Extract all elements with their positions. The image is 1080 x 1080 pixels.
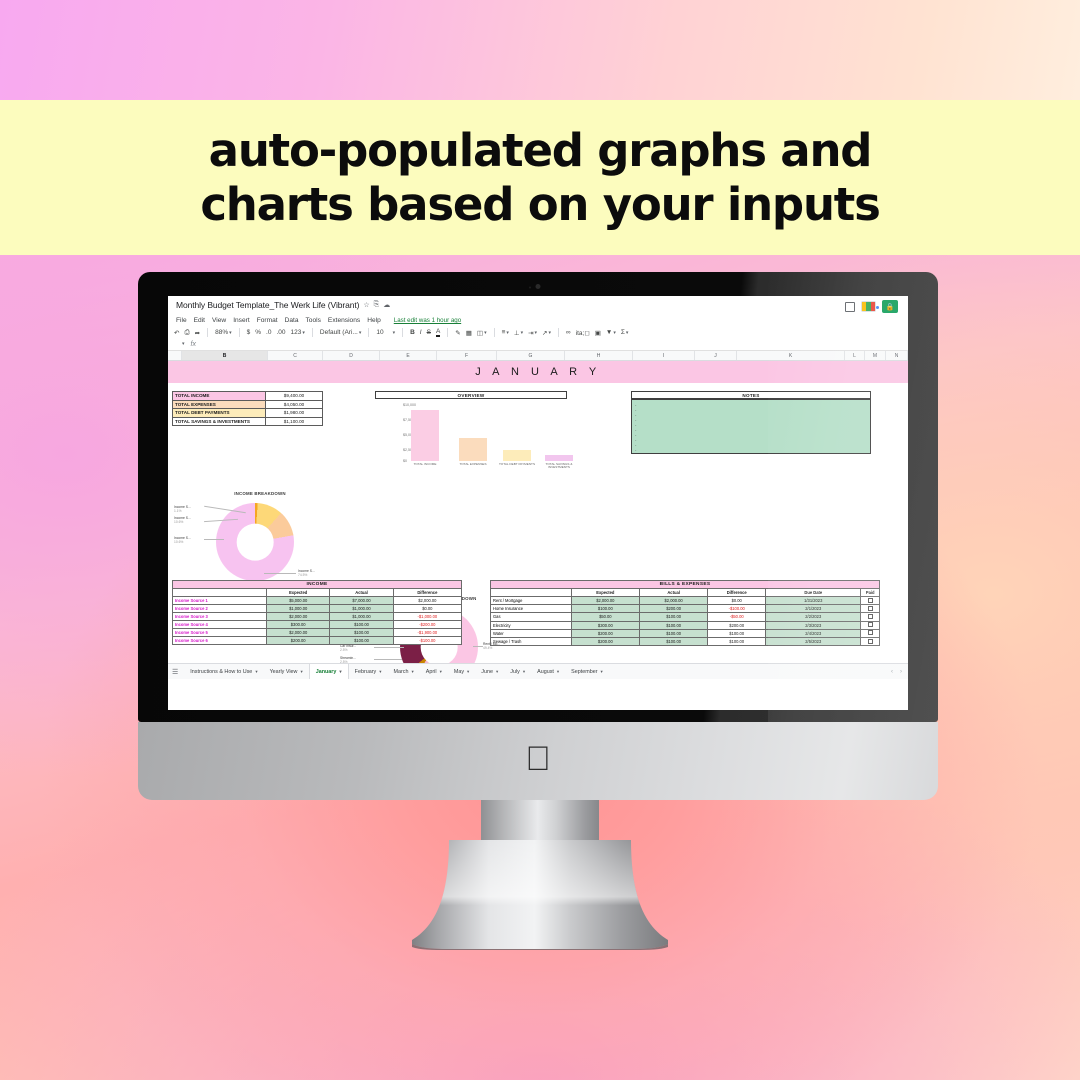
table-row: TOTAL DEBT PAYMENTS $1,980.00: [173, 409, 323, 418]
bill-expected[interactable]: $2,000.00: [571, 597, 639, 605]
income-source-name[interactable]: Income Source 1: [173, 597, 267, 605]
meet-icon[interactable]: [861, 301, 876, 312]
toolbar: ↶ ⎙ ➦ 88%▾ $ % .0 .00 123▾ Default (Ari.…: [168, 326, 908, 339]
menu-extensions[interactable]: Extensions: [328, 317, 360, 324]
income-actual[interactable]: $100.00: [330, 621, 393, 629]
bill-difference: -$100.00: [708, 605, 766, 613]
sheet-tab-instructions[interactable]: Instructions & How to Use▾: [184, 664, 263, 680]
bar-label-total-debt: TOTAL DEBT PAYMENTS: [497, 463, 537, 467]
income-table-caption: INCOME: [173, 581, 462, 589]
column-header-b[interactable]: B: [182, 351, 268, 360]
income-actual[interactable]: $1,000.00: [330, 613, 393, 621]
bill-paid-cell[interactable]: [861, 621, 880, 629]
tab-next-icon[interactable]: ›: [900, 669, 902, 675]
bill-expected[interactable]: $200.00: [571, 637, 639, 645]
paid-checkbox[interactable]: [868, 614, 873, 619]
bill-difference: $100.00: [708, 637, 766, 645]
column-header-m[interactable]: M: [865, 351, 886, 360]
column-header-i[interactable]: I: [633, 351, 695, 360]
income-col-actual: Actual: [330, 589, 393, 597]
table-row[interactable]: Gas $50.00 $100.00 -$50.00 2/2/2023: [491, 613, 880, 621]
insert-image-icon[interactable]: ▣: [595, 329, 601, 337]
menu-insert[interactable]: Insert: [233, 317, 250, 324]
table-row[interactable]: Income Source 3 $2,000.00 $1,000.00 -$1,…: [173, 613, 462, 621]
col-corner[interactable]: [168, 351, 182, 360]
imac-stand: [412, 840, 668, 950]
bill-actual[interactable]: $100.00: [639, 637, 707, 645]
income-difference: $2,000.00: [393, 597, 461, 605]
horizontal-align-icon[interactable]: ≡▾: [502, 329, 509, 336]
menu-file[interactable]: File: [176, 317, 187, 324]
menu-edit[interactable]: Edit: [194, 317, 205, 324]
screen-content: Monthly Budget Template_The Werk Life (V…: [168, 296, 908, 710]
bills-table-wrap[interactable]: BILLS & EXPENSES Expected Actual Differe…: [490, 580, 880, 646]
income-expected[interactable]: $2,000.00: [267, 629, 330, 637]
sheet-tab-bar: ☰ Instructions & How to Use▾ Yearly View…: [168, 663, 908, 679]
bill-expected[interactable]: $100.00: [571, 605, 639, 613]
notes-body[interactable]: - - - - - - - - - -: [631, 399, 871, 454]
table-row[interactable]: Home Insurance $100.00 $200.00 -$100.00 …: [491, 605, 880, 613]
sheet-tab-january[interactable]: January▾: [309, 664, 349, 680]
summary-value-total-expenses[interactable]: $4,050.00: [266, 400, 323, 409]
paid-checkbox[interactable]: [868, 606, 873, 611]
table-row[interactable]: Water $200.00 $100.00 $100.00 2/4/2023: [491, 629, 880, 637]
bills-table[interactable]: BILLS & EXPENSES Expected Actual Differe…: [490, 580, 880, 646]
table-row: BILLS & EXPENSES: [491, 581, 880, 589]
bill-actual[interactable]: $200.00: [639, 605, 707, 613]
bill-name[interactable]: Electricity: [491, 621, 572, 629]
bill-due-date[interactable]: 2/1/2023: [766, 605, 861, 613]
menu-view[interactable]: View: [212, 317, 226, 324]
overview-bars: $10,000 $7,500 $5,000 $2,500 $0 TOTAL IN…: [375, 399, 567, 471]
italic-button[interactable]: I: [420, 329, 422, 336]
summary-label-total-income: TOTAL INCOME: [173, 392, 266, 401]
bill-difference: $100.00: [708, 629, 766, 637]
bill-due-date[interactable]: 2/4/2023: [766, 629, 861, 637]
column-header-h[interactable]: H: [565, 351, 633, 360]
column-header-g[interactable]: G: [497, 351, 565, 360]
sheet-tab-march[interactable]: March▾: [388, 664, 420, 680]
income-col-expected: Expected: [267, 589, 330, 597]
bar-total-savings: TOTAL SAVINGS & INVESTMENTS: [545, 455, 573, 461]
paid-checkbox[interactable]: [868, 598, 873, 603]
bill-paid-cell[interactable]: [861, 629, 880, 637]
table-row: TOTAL SAVINGS & INVESTMENTS $1,100.00: [173, 417, 323, 426]
percent-format-button[interactable]: %: [255, 329, 261, 336]
menu-tools[interactable]: Tools: [306, 317, 321, 324]
background-top-strip: [0, 0, 1080, 100]
comment-icon[interactable]: [845, 302, 855, 312]
income-label-1: Income S... 1.1%: [174, 505, 191, 513]
formula-bar: ▾ fx: [168, 339, 908, 351]
bill-name[interactable]: Gas: [491, 613, 572, 621]
income-difference: -$1,900.00: [393, 629, 461, 637]
number-format-select[interactable]: 123▾: [291, 329, 305, 336]
overview-chart-title: OVERVIEW: [375, 391, 567, 399]
column-header-d[interactable]: D: [323, 351, 380, 360]
income-label-3: Income S... 10.6%: [174, 536, 191, 544]
link-icon[interactable]: ∞: [566, 329, 571, 336]
bill-due-date[interactable]: 2/5/2023: [766, 637, 861, 645]
column-header-c[interactable]: C: [268, 351, 323, 360]
summary-table-wrap: TOTAL INCOME $9,400.00 TOTAL EXPENSES $4…: [172, 391, 323, 426]
income-actual[interactable]: $100.00: [330, 629, 393, 637]
expense-label-car-insurance: Car Insur... 2.5%: [340, 644, 356, 652]
bill-due-date[interactable]: 1/31/2023: [766, 597, 861, 605]
bill-difference: $200.00: [708, 621, 766, 629]
bold-button[interactable]: B: [410, 329, 415, 336]
table-row[interactable]: Income Source 2 $1,000.00 $1,000.00 $0.0…: [173, 605, 462, 613]
table-row[interactable]: Income Source 4 $300.00 $100.00 -$200.00: [173, 621, 462, 629]
imac-chin: : [138, 722, 938, 800]
menu-bar: File Edit View Insert Format Data Tools …: [168, 316, 908, 326]
income-source-name[interactable]: Income Source 6: [173, 637, 267, 645]
bill-difference: $0.00: [708, 597, 766, 605]
notes-title: NOTES: [631, 391, 871, 399]
bill-due-date[interactable]: 2/2/2023: [766, 613, 861, 621]
notes-bullet: -: [635, 447, 867, 452]
bill-actual[interactable]: $2,000.00: [639, 597, 707, 605]
share-button[interactable]: 🔒: [882, 300, 898, 313]
income-table-wrap[interactable]: INCOME Expected Actual Difference Income…: [172, 580, 462, 645]
currency-format-button[interactable]: $: [247, 329, 251, 336]
sheet-tab-july[interactable]: July▾: [504, 664, 531, 680]
bill-expected[interactable]: $200.00: [571, 629, 639, 637]
table-row: INCOME: [173, 581, 462, 589]
merge-cells-icon[interactable]: ◫▾: [477, 329, 487, 337]
table-row[interactable]: Income Source 6 $200.00 $100.00 -$100.00: [173, 637, 462, 645]
bill-name[interactable]: Sewage / Trash: [491, 637, 572, 645]
summary-label-total-savings: TOTAL SAVINGS & INVESTMENTS: [173, 417, 266, 426]
tab-navigation: ‹ ›: [891, 669, 908, 675]
sheet-tab-yearly-view[interactable]: Yearly View▾: [264, 664, 309, 680]
sheet-tab-april[interactable]: April▾: [420, 664, 448, 680]
bill-name[interactable]: Rent / Mortgage: [491, 597, 572, 605]
table-row: TOTAL EXPENSES $4,050.00: [173, 400, 323, 409]
text-wrap-icon[interactable]: ⇥▾: [528, 329, 537, 337]
bill-actual[interactable]: $100.00: [639, 629, 707, 637]
bills-col-difference: Difference: [708, 589, 766, 597]
table-row[interactable]: Electricity $300.00 $100.00 $200.00 2/3/…: [491, 621, 880, 629]
income-col-blank: [173, 589, 267, 597]
income-col-difference: Difference: [393, 589, 461, 597]
tab-prev-icon[interactable]: ‹: [891, 669, 893, 675]
spreadsheet-grid[interactable]: J A N U A R Y TOTAL INCOME $9,400.00 TOT…: [168, 361, 908, 679]
bar-total-expenses: TOTAL EXPENSES: [459, 438, 487, 461]
income-difference: $0.00: [393, 605, 461, 613]
print-icon[interactable]: ⎙: [184, 329, 189, 337]
imac-bezel: Monthly Budget Template_The Werk Life (V…: [138, 272, 938, 722]
name-box-caret-icon[interactable]: ▾: [182, 341, 185, 347]
bills-col-expected: Expected: [571, 589, 639, 597]
apple-logo: : [525, 742, 551, 776]
zoom-select[interactable]: 88%▾: [215, 329, 232, 336]
summary-value-total-income[interactable]: $9,400.00: [266, 392, 323, 401]
bills-col-actual: Actual: [639, 589, 707, 597]
text-rotation-icon[interactable]: ↗▾: [542, 329, 551, 337]
income-donut: [216, 503, 294, 581]
font-size-select[interactable]: 10▾: [376, 329, 395, 336]
income-label-4: Income S... 74.5%: [298, 569, 315, 577]
bills-col-due-date: Due Date: [766, 589, 861, 597]
income-expected[interactable]: $1,000.00: [267, 605, 330, 613]
bill-due-date[interactable]: 2/3/2023: [766, 621, 861, 629]
strikethrough-button[interactable]: S: [427, 329, 431, 336]
table-row: Expected Actual Difference Due Date Paid: [491, 589, 880, 597]
income-difference: -$200.00: [393, 621, 461, 629]
table-row: Expected Actual Difference: [173, 589, 462, 597]
paid-checkbox[interactable]: [868, 622, 873, 627]
bills-col-blank: [491, 589, 572, 597]
month-title: J A N U A R Y: [168, 361, 908, 383]
column-header-e[interactable]: E: [380, 351, 437, 360]
fx-icon: fx: [191, 341, 196, 348]
summary-label-total-expenses: TOTAL EXPENSES: [173, 400, 266, 409]
bill-difference: -$50.00: [708, 613, 766, 621]
column-headers: B C D E F G H I J K L M N: [168, 351, 908, 361]
bill-paid-cell[interactable]: [861, 613, 880, 621]
all-sheets-icon[interactable]: ☰: [172, 668, 178, 676]
sheet-tab-august[interactable]: August▾: [531, 664, 565, 680]
table-row[interactable]: Sewage / Trash $200.00 $100.00 $100.00 2…: [491, 637, 880, 645]
income-table[interactable]: INCOME Expected Actual Difference Income…: [172, 580, 462, 645]
income-breakdown-title: INCOME BREAKDOWN: [172, 491, 348, 496]
menu-format[interactable]: Format: [257, 317, 278, 324]
bills-table-caption: BILLS & EXPENSES: [491, 581, 880, 589]
document-title[interactable]: Monthly Budget Template_The Werk Life (V…: [176, 300, 359, 310]
bar-total-income: TOTAL INCOME: [411, 410, 439, 461]
income-source-name[interactable]: Income Source 2: [173, 605, 267, 613]
increase-decimal-button[interactable]: .00: [276, 329, 285, 336]
move-icon[interactable]: ⎘: [374, 301, 380, 309]
bar-total-debt: TOTAL DEBT PAYMENTS: [503, 450, 531, 461]
bar-label-total-expenses: TOTAL EXPENSES: [453, 463, 493, 467]
income-actual[interactable]: $1,000.00: [330, 605, 393, 613]
sheet-tab-february[interactable]: February▾: [349, 664, 388, 680]
summary-label-total-debt: TOTAL DEBT PAYMENTS: [173, 409, 266, 418]
table-row[interactable]: Income Source 5 $2,000.00 $100.00 -$1,90…: [173, 629, 462, 637]
column-header-f[interactable]: F: [437, 351, 497, 360]
overview-chart[interactable]: OVERVIEW $10,000 $7,500 $5,000 $2,500 $0…: [375, 391, 567, 471]
promo-banner: auto-populated graphs and charts based o…: [0, 100, 1080, 255]
header-actions: 🔒: [845, 300, 902, 313]
paint-format-icon[interactable]: ➦: [195, 329, 200, 337]
sum-icon[interactable]: Σ▾: [621, 329, 629, 336]
decrease-decimal-button[interactable]: .0: [266, 329, 271, 336]
summary-value-total-debt[interactable]: $1,980.00: [266, 409, 323, 418]
star-icon[interactable]: ☆: [363, 301, 369, 309]
borders-icon[interactable]: ▦: [466, 329, 472, 337]
bar-label-total-income: TOTAL INCOME: [405, 463, 445, 467]
webcam-icon: [536, 284, 541, 289]
bar-label-total-savings: TOTAL SAVINGS & INVESTMENTS: [539, 463, 579, 470]
sheet-tab-june[interactable]: June▾: [475, 664, 504, 680]
column-header-k[interactable]: K: [737, 351, 845, 360]
sheet-tab-may[interactable]: May▾: [448, 664, 475, 680]
banner-line-1: auto-populated graphs and: [209, 124, 872, 178]
bill-paid-cell[interactable]: [861, 637, 880, 645]
sheets-header: Monthly Budget Template_The Werk Life (V…: [168, 296, 908, 316]
bill-name[interactable]: Water: [491, 629, 572, 637]
table-row: TOTAL INCOME $9,400.00: [173, 392, 323, 401]
fill-color-icon[interactable]: ✎: [455, 329, 460, 337]
income-source-name[interactable]: Income Source 3: [173, 613, 267, 621]
income-expected[interactable]: $300.00: [267, 621, 330, 629]
comment-icon[interactable]: ita;◻: [576, 329, 590, 337]
menu-help[interactable]: Help: [367, 317, 381, 324]
table-row[interactable]: Rent / Mortgage $2,000.00 $2,000.00 $0.0…: [491, 597, 880, 605]
income-actual[interactable]: $7,000.00: [330, 597, 393, 605]
font-select[interactable]: Default (Ari...▾: [320, 329, 361, 336]
column-header-j[interactable]: J: [695, 351, 737, 360]
table-row[interactable]: Income Source 1 $5,000.00 $7,000.00 $2,0…: [173, 597, 462, 605]
notes-panel[interactable]: NOTES - - - - - - - - - -: [631, 391, 871, 454]
last-edit-status[interactable]: Last edit was 1 hour ago: [394, 317, 461, 324]
bill-actual[interactable]: $100.00: [639, 613, 707, 621]
income-expected[interactable]: $200.00: [267, 637, 330, 645]
column-header-l[interactable]: L: [845, 351, 865, 360]
income-source-name[interactable]: Income Source 5: [173, 629, 267, 637]
sheet-tab-september[interactable]: September▾: [565, 664, 609, 680]
bills-col-paid: Paid: [861, 589, 880, 597]
undo-icon[interactable]: ↶: [174, 329, 179, 337]
income-actual[interactable]: $100.00: [330, 637, 393, 645]
income-expected[interactable]: $5,000.00: [267, 597, 330, 605]
formula-input[interactable]: [202, 340, 902, 348]
bill-actual[interactable]: $100.00: [639, 621, 707, 629]
bill-expected[interactable]: $50.00: [571, 613, 639, 621]
income-source-name[interactable]: Income Source 4: [173, 621, 267, 629]
summary-table: TOTAL INCOME $9,400.00 TOTAL EXPENSES $4…: [172, 391, 323, 426]
bill-paid-cell[interactable]: [861, 597, 880, 605]
summary-value-total-savings[interactable]: $1,100.00: [266, 417, 323, 426]
income-difference: -$100.00: [393, 637, 461, 645]
column-header-n[interactable]: N: [886, 351, 908, 360]
text-color-button[interactable]: A: [436, 328, 440, 337]
vertical-align-icon[interactable]: ⊥▾: [514, 329, 523, 337]
paid-checkbox[interactable]: [868, 639, 873, 644]
cloud-icon[interactable]: ☁: [383, 301, 390, 309]
banner-line-2: charts based on your inputs: [200, 178, 879, 232]
income-difference: -$1,000.00: [393, 613, 461, 621]
bill-expected[interactable]: $300.00: [571, 621, 639, 629]
imac-device: Monthly Budget Template_The Werk Life (V…: [138, 272, 938, 800]
income-expected[interactable]: $2,000.00: [267, 613, 330, 621]
paid-checkbox[interactable]: [868, 630, 873, 635]
bill-paid-cell[interactable]: [861, 605, 880, 613]
bill-name[interactable]: Home Insurance: [491, 605, 572, 613]
income-label-2: Income S... 10.6%: [174, 516, 191, 524]
menu-data[interactable]: Data: [285, 317, 299, 324]
filter-icon[interactable]: ▼▾: [606, 329, 616, 336]
